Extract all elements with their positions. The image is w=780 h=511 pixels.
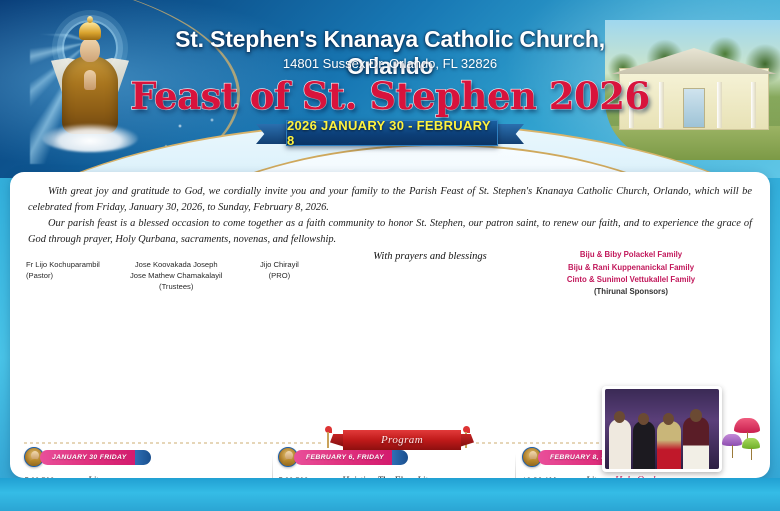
program-item: 7.00 PM:Hoisting The Flag, LitanyMemoria… <box>278 468 516 478</box>
program-banner: Program <box>343 430 461 450</box>
person-head <box>663 413 674 425</box>
pro-role: (PRO) <box>260 270 299 281</box>
trustee-name-1: Jose Koovakada Joseph <box>130 259 222 270</box>
church-address: 14801 Sussex Dr, Orlando, FL 32826 <box>130 56 650 71</box>
content-card: With great joy and gratitude to God, we … <box>10 172 770 478</box>
signatories-row: Fr Lijo Kochuparambil (Pastor) Jose Koov… <box>10 251 770 295</box>
footer-strip <box>0 478 780 511</box>
invitation-paragraph-1: With great joy and gratitude to God, we … <box>28 184 752 215</box>
sponsor-family-3: Cinto & Sunimol Vettukallel Family <box>506 274 756 286</box>
person-figure <box>609 419 631 469</box>
program-item: 7.00 PM:LitanyHoly Qurbana, NovenaAdorat… <box>24 468 272 478</box>
day-badge-label: JANUARY 30 FRIDAY <box>52 454 127 461</box>
day-badge-tail <box>135 450 151 465</box>
day-badge-label: FEBRUARY 6, FRIDAY <box>306 454 384 461</box>
date-range-badge: 2026 JANUARY 30 - FEBRUARY 8 <box>286 120 498 146</box>
sponsor-family-photo <box>602 386 722 472</box>
umbrella-icon <box>722 434 742 458</box>
day-badge: JANUARY 30 FRIDAY <box>24 450 272 465</box>
trustee-name-2: Jose Mathew Chamakalayil <box>130 270 222 281</box>
sponsors-block: Biju & Biby Polackel Family Biju & Rani … <box>506 249 756 297</box>
program-banner-label: Program <box>381 434 423 446</box>
sponsor-role: (Thirunal Sponsors) <box>506 286 756 298</box>
pro-name: Jijo Chirayil <box>260 259 299 270</box>
blessings-text: With prayers and blessings <box>340 251 520 262</box>
signatory-trustees: Jose Koovakada Joseph Jose Mathew Chamak… <box>130 259 222 292</box>
day-badge: FEBRUARY 6, FRIDAY <box>278 450 516 465</box>
person-head <box>614 411 625 423</box>
signatory-pastor: Fr Lijo Kochuparambil (Pastor) <box>26 259 100 281</box>
page-title: St. Stephen's Knanaya Catholic Church, O… <box>130 26 650 80</box>
umbrella-icon <box>742 438 760 460</box>
feast-title: Feast of St. Stephen 2026 <box>110 74 670 118</box>
divider-left <box>24 442 324 444</box>
day-badge-tail <box>392 450 408 465</box>
signatory-pro: Jijo Chirayil (PRO) <box>260 259 299 281</box>
poster-header: St. Stephen's Knanaya Catholic Church, O… <box>0 0 780 178</box>
sponsor-family-1: Biju & Biby Polackel Family <box>506 249 756 261</box>
program-column-2: FEBRUARY 6, FRIDAY7.00 PM:Hoisting The F… <box>278 450 516 478</box>
day-badge-pill: FEBRUARY 6, FRIDAY <box>294 450 400 465</box>
person-figure <box>683 417 709 469</box>
invitation-paragraph-2: Our parish feast is a blessed occasion t… <box>28 216 752 247</box>
program-column-1: JANUARY 30 FRIDAY7.00 PM:LitanyHoly Qurb… <box>24 450 272 478</box>
invitation-block: With great joy and gratitude to God, we … <box>10 172 770 247</box>
photo-inner <box>605 389 719 469</box>
pastor-name: Fr Lijo Kochuparambil <box>26 259 100 270</box>
pastor-role: (Pastor) <box>26 270 100 281</box>
trustee-role: (Trustees) <box>130 281 222 292</box>
person-head <box>638 413 649 425</box>
date-range-label: 2026 JANUARY 30 - FEBRUARY 8 <box>287 118 497 148</box>
program-details: Hoisting The Flag, LitanyMemorial Holy Q… <box>342 468 516 478</box>
ribbon-tail-left <box>256 124 288 144</box>
person-figure <box>633 421 655 469</box>
day-badge-pill: JANUARY 30 FRIDAY <box>40 450 143 465</box>
decorative-muthukuda-umbrellas-icon <box>722 418 764 464</box>
program-line: Hoisting The Flag, Litany <box>342 468 516 478</box>
program-line: Litany <box>88 468 272 478</box>
person-figure <box>657 421 681 469</box>
sponsor-family-2: Biju & Rani Kuppenanickal Family <box>506 262 756 274</box>
program-details: LitanyHoly Qurbana, NovenaAdoration <box>88 468 272 478</box>
person-head <box>690 409 702 422</box>
